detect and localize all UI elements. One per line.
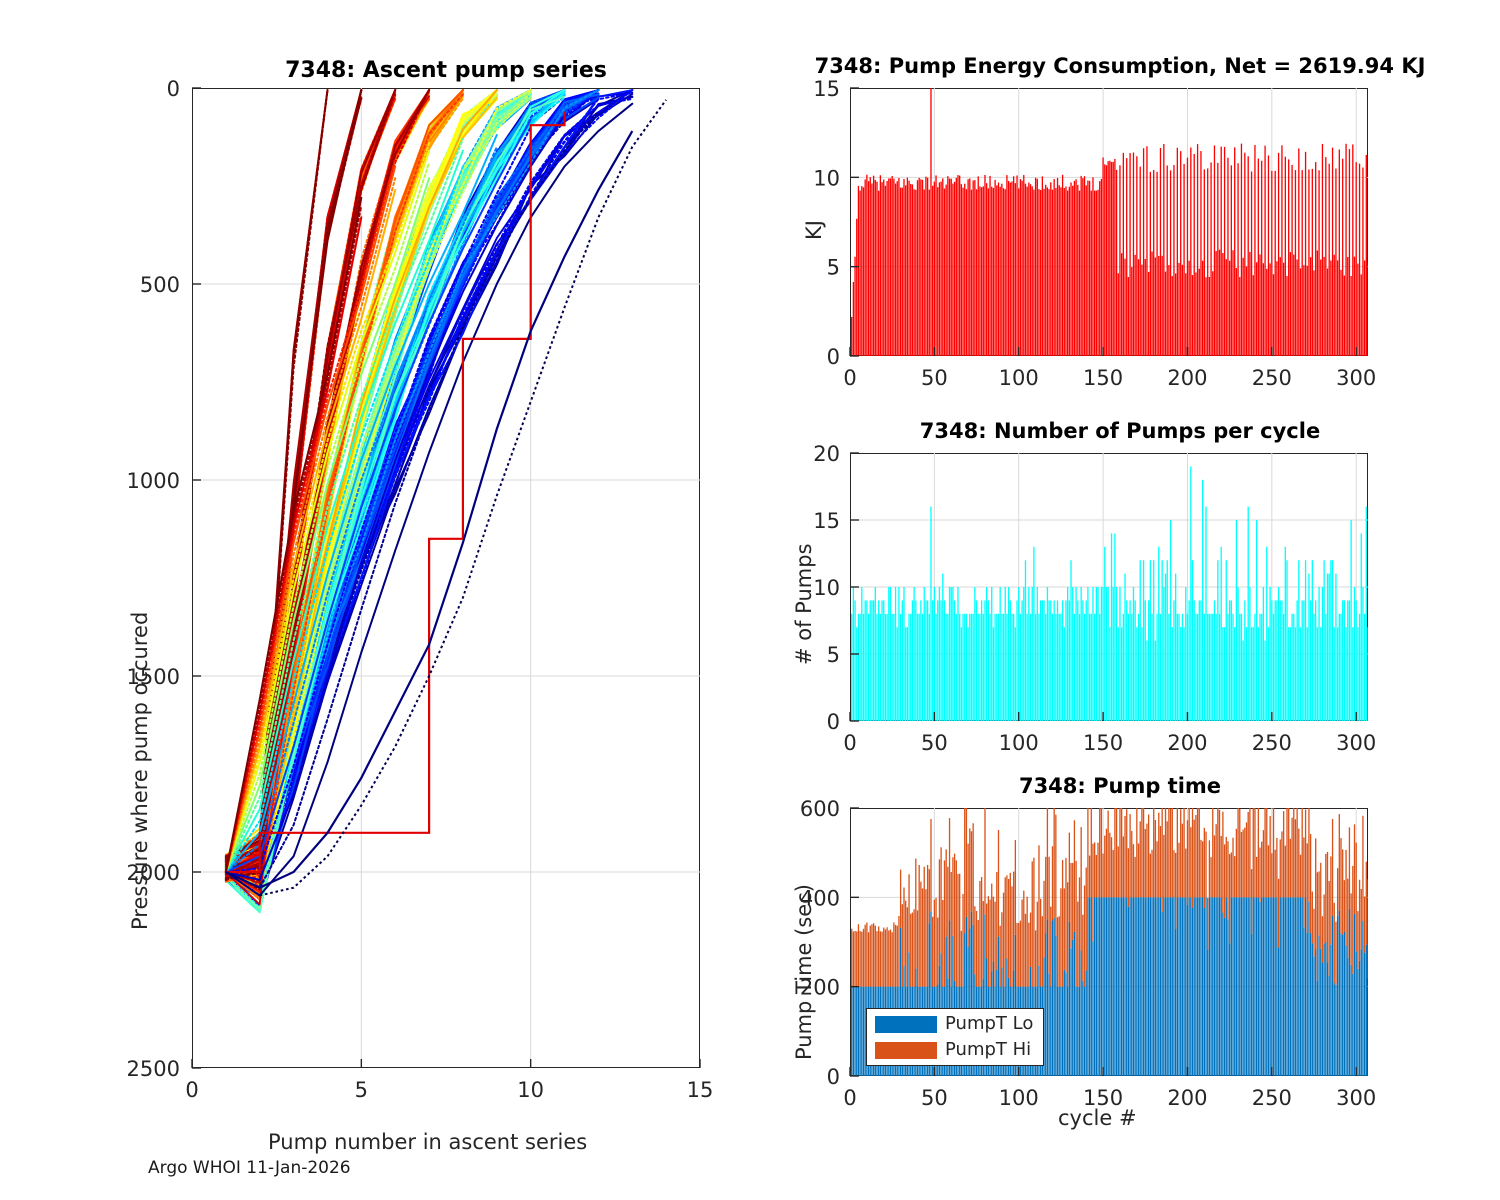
svg-text:5: 5 — [827, 643, 840, 667]
svg-text:250: 250 — [1252, 1086, 1292, 1110]
panel-pump-energy: 7348: Pump Energy Consumption, Net = 261… — [740, 50, 1500, 390]
ascent-series-plot: 05001000150020002500051015 — [0, 50, 730, 1150]
pump-time-plot: 0200400600050100150200250300 — [740, 770, 1500, 1150]
number-of-pumps-ylabel: # of Pumps — [792, 543, 816, 665]
panel-number-of-pumps: 7348: Number of Pumps per cycle 05101520… — [740, 415, 1500, 755]
svg-text:300: 300 — [1336, 731, 1376, 755]
svg-text:0: 0 — [827, 1065, 840, 1089]
svg-text:100: 100 — [999, 1086, 1039, 1110]
ascent-series-xlabel: Pump number in ascent series — [268, 1130, 587, 1154]
svg-text:2500: 2500 — [127, 1057, 180, 1081]
svg-text:150: 150 — [1083, 366, 1123, 390]
svg-text:250: 250 — [1252, 731, 1292, 755]
svg-text:10: 10 — [813, 576, 840, 600]
panel-ascent-pump-series: 7348: Ascent pump series 050010001500200… — [0, 50, 730, 1150]
svg-text:50: 50 — [921, 1086, 948, 1110]
legend-label-pumpt-hi: PumpT Hi — [945, 1039, 1031, 1060]
ascent-series-ylabel: Pressure where pump occured — [128, 612, 152, 930]
svg-text:50: 50 — [921, 731, 948, 755]
svg-text:0: 0 — [843, 1086, 856, 1110]
svg-text:300: 300 — [1336, 366, 1376, 390]
svg-text:0: 0 — [843, 366, 856, 390]
svg-text:300: 300 — [1336, 1086, 1376, 1110]
svg-text:15: 15 — [687, 1078, 714, 1102]
pump-time-xlabel: cycle # — [1058, 1106, 1137, 1130]
svg-text:150: 150 — [1083, 731, 1123, 755]
pump-time-legend: PumpT Lo PumpT Hi — [866, 1008, 1044, 1066]
number-of-pumps-plot: 05101520050100150200250300 — [740, 415, 1500, 755]
svg-text:0: 0 — [843, 731, 856, 755]
svg-text:100: 100 — [999, 731, 1039, 755]
panel-pump-time: 7348: Pump time 020040060005010015020025… — [740, 770, 1500, 1150]
svg-text:250: 250 — [1252, 366, 1292, 390]
legend-label-pumpt-lo: PumpT Lo — [945, 1013, 1033, 1034]
svg-text:5: 5 — [355, 1078, 368, 1102]
pump-energy-ylabel: KJ — [802, 220, 826, 240]
svg-text:0: 0 — [827, 345, 840, 369]
legend-swatch-pumpt-lo — [875, 1016, 937, 1033]
svg-text:200: 200 — [1167, 1086, 1207, 1110]
svg-text:500: 500 — [140, 273, 180, 297]
figure-canvas: 7348: Ascent pump series 050010001500200… — [0, 0, 1500, 1200]
svg-text:20: 20 — [813, 442, 840, 466]
svg-text:10: 10 — [517, 1078, 544, 1102]
svg-text:15: 15 — [813, 77, 840, 101]
pump-time-ylabel: Pump Time (sec) — [792, 884, 816, 1060]
svg-text:0: 0 — [827, 710, 840, 734]
svg-text:50: 50 — [921, 366, 948, 390]
figure-footer: Argo WHOI 11-Jan-2026 — [148, 1158, 351, 1178]
svg-text:600: 600 — [800, 797, 840, 821]
svg-text:5: 5 — [827, 256, 840, 280]
svg-text:200: 200 — [1167, 731, 1207, 755]
svg-text:10: 10 — [813, 166, 840, 190]
legend-swatch-pumpt-hi — [875, 1042, 937, 1059]
svg-text:200: 200 — [1167, 366, 1207, 390]
svg-text:0: 0 — [167, 77, 180, 101]
pump-energy-plot: 051015050100150200250300 — [740, 50, 1500, 390]
svg-text:100: 100 — [999, 366, 1039, 390]
svg-text:1000: 1000 — [127, 469, 180, 493]
svg-text:15: 15 — [813, 509, 840, 533]
svg-text:0: 0 — [185, 1078, 198, 1102]
